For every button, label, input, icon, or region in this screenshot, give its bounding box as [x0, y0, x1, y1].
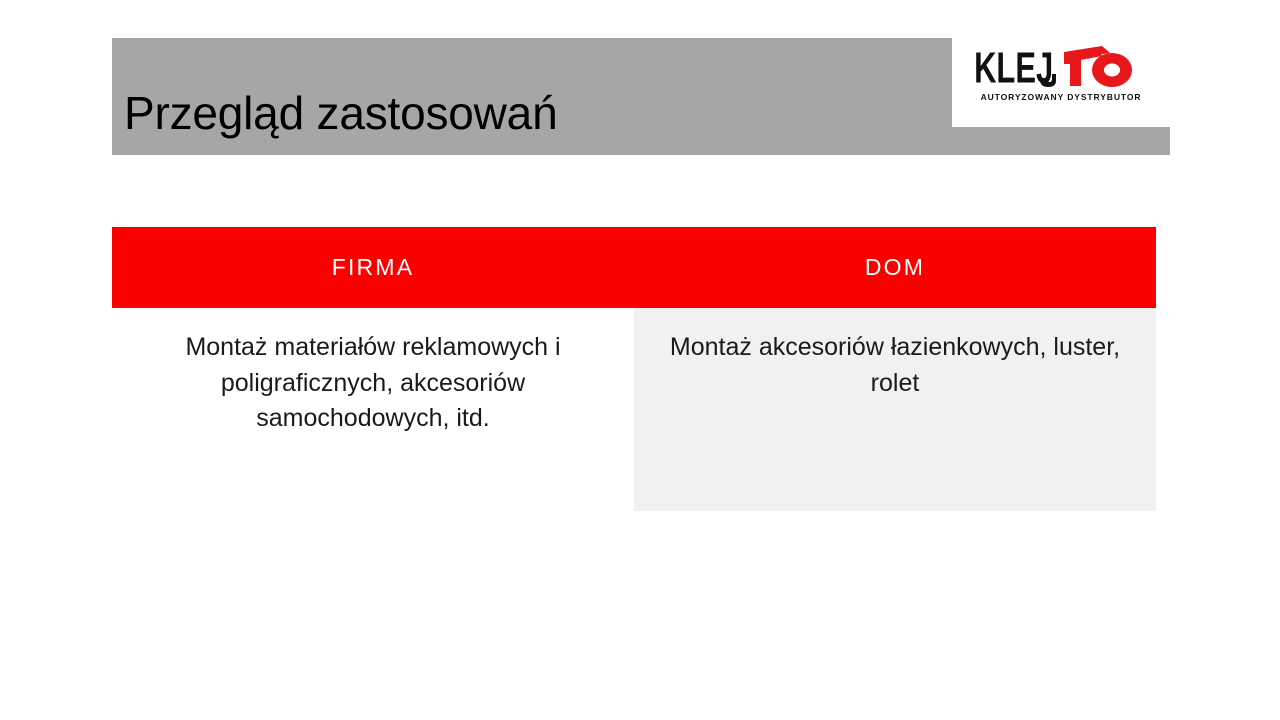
table-header-row: FIRMA DOM: [112, 227, 1156, 308]
table-cell-dom: Montaż akcesoriów łazienkowych, luster, …: [634, 308, 1156, 511]
table-header-firma: FIRMA: [112, 227, 634, 308]
comparison-table: FIRMA DOM Montaż materiałów reklamowych …: [112, 227, 1156, 511]
page-title: Przegląd zastosowań: [124, 69, 944, 158]
klejto-logo-icon: KLEJ: [952, 44, 1170, 92]
logo-container: KLEJ AUTORYZOWANY DYSTRYBUTOR: [952, 38, 1170, 127]
table-header-dom: DOM: [634, 227, 1156, 308]
logo-tagline: AUTORYZOWANY DYSTRYBUTOR: [952, 92, 1170, 102]
table-body-row: Montaż materiałów reklamowych i poligraf…: [112, 308, 1156, 511]
svg-text:KLEJ: KLEJ: [974, 44, 1053, 92]
table-cell-firma: Montaż materiałów reklamowych i poligraf…: [112, 308, 634, 511]
